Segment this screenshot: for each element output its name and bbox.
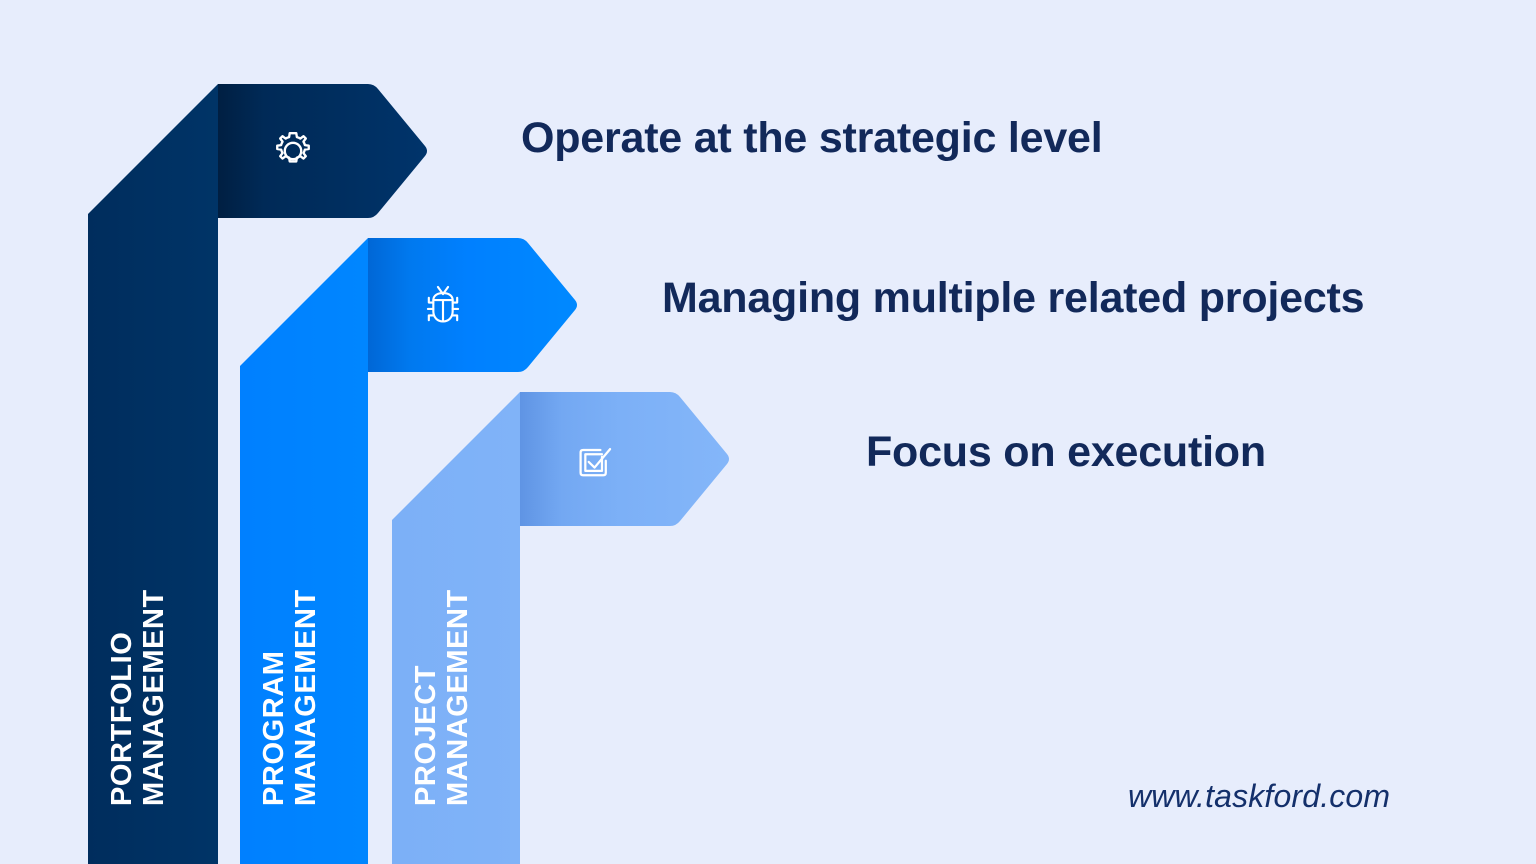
checkbox-check-icon xyxy=(568,432,622,486)
portfolio-headline: Operate at the strategic level xyxy=(521,114,1102,163)
project-banner xyxy=(520,392,730,526)
project-banner-shape xyxy=(520,392,730,526)
program-label-line1: PROGRAM xyxy=(258,506,290,806)
infographic-canvas: PORTFOLIO MANAGEMENT Operate at the stra… xyxy=(0,0,1536,864)
program-label-line2: MANAGEMENT xyxy=(290,506,322,806)
program-banner-shape xyxy=(368,238,578,372)
portfolio-label-line1: PORTFOLIO xyxy=(106,506,138,806)
project-label: PROJECT MANAGEMENT xyxy=(410,506,475,806)
program-label: PROGRAM MANAGEMENT xyxy=(258,506,323,806)
portfolio-banner xyxy=(218,84,428,218)
program-headline: Managing multiple related projects xyxy=(662,274,1364,323)
bug-icon xyxy=(416,278,470,332)
portfolio-label: PORTFOLIO MANAGEMENT xyxy=(106,506,171,806)
project-label-line2: MANAGEMENT xyxy=(442,506,474,806)
project-label-line1: PROJECT xyxy=(410,506,442,806)
portfolio-label-line2: MANAGEMENT xyxy=(138,506,170,806)
gear-icon xyxy=(266,124,320,178)
site-url[interactable]: www.taskford.com xyxy=(1128,778,1390,815)
program-banner xyxy=(368,238,578,372)
project-headline: Focus on execution xyxy=(866,428,1266,477)
portfolio-banner-shape xyxy=(218,84,428,218)
